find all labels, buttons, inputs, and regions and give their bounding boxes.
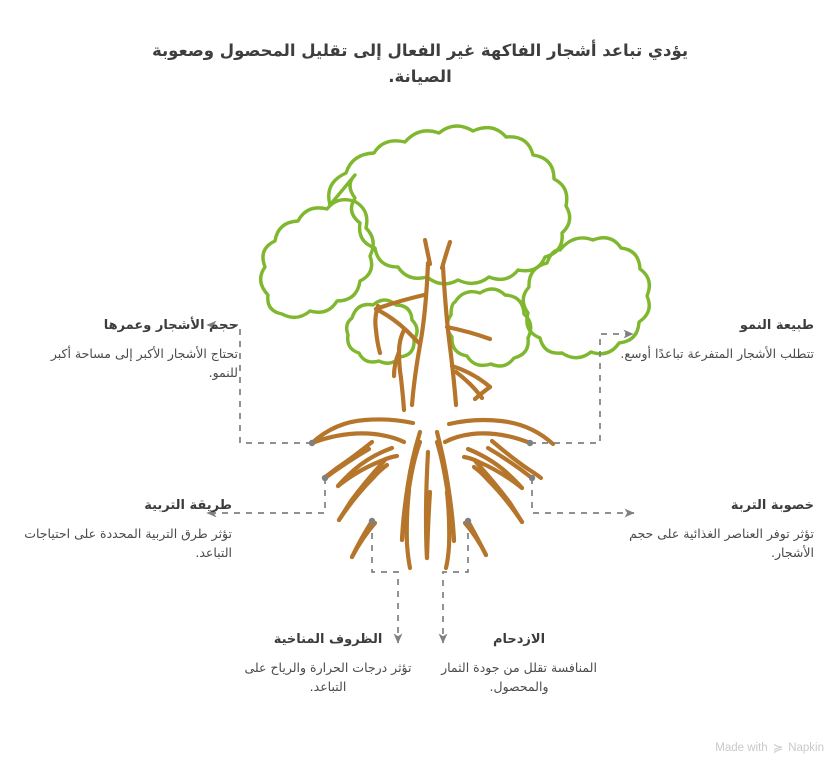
anchor-dot-crowding (465, 518, 471, 524)
node-crowding[interactable]: الازدحام المنافسة تقلل من جودة الثمار وا… (434, 632, 604, 697)
node-crowding-heading: الازدحام (434, 632, 604, 649)
node-training-body: تؤثر طرق التربية المحددة على احتياجات ال… (20, 524, 232, 563)
connector-dots-group (309, 440, 535, 524)
root-right-d2 (465, 523, 486, 555)
roots-group (312, 419, 553, 568)
root-lateral-right-top (449, 420, 553, 444)
anchor-dot-fertility (529, 475, 535, 481)
canopy-top-center (329, 126, 570, 284)
canopy-small-right (447, 289, 530, 366)
trunk-branches-group (375, 240, 490, 410)
connector-crowding (443, 521, 468, 643)
root-right-c2 (474, 467, 522, 522)
node-fertility-heading: خصوبة التربة (614, 498, 814, 515)
node-size-heading: حجم الأشجار وعمرها (26, 318, 238, 335)
branch-left-3 (375, 306, 380, 353)
connector-climate (372, 521, 398, 643)
branch-right-3 (475, 387, 490, 399)
root-left-d2 (352, 523, 375, 557)
branch-up-left (425, 240, 430, 264)
root-right-b (468, 449, 522, 488)
node-training[interactable]: طريقة التربية تؤثر طرق التربية المحددة ع… (20, 498, 232, 563)
napkin-watermark[interactable]: Made with ≽ Napkin (715, 742, 824, 755)
node-fertility-body: تؤثر توفر العناصر الغذائية على حجم الأشج… (614, 524, 814, 563)
root-right-a (492, 441, 541, 478)
branch-left-5 (394, 352, 399, 376)
diagram-canvas: يؤدي تباعد أشجار الفاكهة غير الفعال إلى … (0, 0, 840, 768)
root-left-c (339, 460, 385, 520)
root-right-a2 (488, 448, 532, 478)
branch-right-4 (456, 372, 482, 398)
anchor-dot-growth (527, 440, 533, 446)
anchor-dot-training (322, 475, 328, 481)
trunk-left-edge (412, 263, 428, 405)
tree-illustration (0, 0, 840, 768)
node-size[interactable]: حجم الأشجار وعمرها تحتاج الأشجار الأكبر … (26, 318, 238, 383)
page-title: يؤدي تباعد أشجار الفاكهة غير الفعال إلى … (120, 38, 720, 89)
trunk-right-edge (443, 267, 456, 405)
node-growth-body: تتطلب الأشجار المتفرعة تباعدًا أوسع. (614, 344, 814, 363)
watermark-prefix: Made with (715, 742, 767, 754)
branch-up-right (442, 242, 450, 268)
foliage-group (261, 126, 650, 366)
root-left-a2 (325, 449, 369, 478)
root-lateral-left-top (312, 419, 413, 443)
root-center-inner-l (407, 490, 410, 568)
node-climate[interactable]: الظروف المناخية تؤثر درجات الحرارة والري… (243, 632, 413, 697)
root-left-b2 (338, 456, 397, 486)
napkin-logo-icon: ≽ (773, 742, 783, 755)
node-climate-body: تؤثر درجات الحرارة والرياح على التباعد. (243, 658, 413, 697)
anchor-dot-size (309, 440, 315, 446)
node-training-heading: طريقة التربية (20, 498, 232, 515)
root-left-c2 (339, 465, 387, 520)
root-left-a (324, 442, 372, 478)
root-center-inner-r (446, 492, 449, 568)
branch-right-1 (447, 327, 490, 339)
root-right-d (468, 521, 486, 555)
node-crowding-body: المنافسة تقلل من جودة الثمار والمحصول. (434, 658, 604, 697)
watermark-brand: Napkin (788, 742, 824, 754)
connector-lines-group (207, 325, 634, 643)
root-center-right (437, 432, 454, 541)
root-center-right2 (437, 442, 454, 540)
branch-right-2 (452, 366, 490, 387)
root-lateral-left-top-b (312, 433, 404, 443)
node-size-body: تحتاج الأشجار الأكبر إلى مساحة أكبر للنم… (26, 344, 238, 383)
root-center-left2 (402, 442, 420, 540)
node-growth[interactable]: طبيعة النمو تتطلب الأشجار المتفرعة تباعد… (614, 318, 814, 363)
root-lateral-right-top-b (445, 433, 530, 443)
node-fertility[interactable]: خصوبة التربة تؤثر توفر العناصر الغذائية … (614, 498, 814, 563)
root-left-d (352, 521, 372, 557)
canopy-small-left (347, 300, 417, 363)
branch-left-2 (376, 309, 420, 344)
anchor-dot-climate (369, 518, 375, 524)
root-left-b (338, 448, 392, 486)
root-center-mid (426, 452, 428, 558)
node-climate-heading: الظروف المناخية (243, 632, 413, 649)
branch-left-4 (399, 330, 404, 410)
root-right-c (476, 462, 522, 522)
root-center-left (402, 432, 420, 540)
canopy-left (261, 200, 374, 318)
node-growth-heading: طبيعة النمو (614, 318, 814, 335)
root-right-b2 (464, 457, 522, 488)
root-center-mid2 (427, 492, 430, 558)
branch-left-1 (376, 295, 424, 309)
